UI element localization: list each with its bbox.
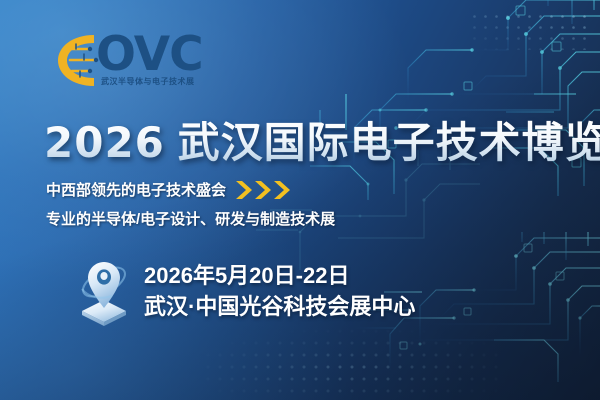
title-name: 武汉国际电子技术博览会	[178, 119, 600, 166]
event-info: 2026年5月20日-22日 武汉·中国光谷科技会展中心	[78, 256, 415, 328]
event-venue: 武汉·中国光谷科技会展中心	[144, 291, 415, 323]
location-pin-icon	[78, 256, 130, 328]
logo-wordmark: OVC	[96, 29, 203, 81]
chevron-group-icon	[234, 180, 290, 200]
title-year: 2026	[44, 118, 165, 167]
subtitle-line-1-text: 中西部领先的电子技术盛会	[46, 179, 226, 200]
dot-grid-top-right	[472, 14, 592, 50]
subtitle-line-2: 专业的半导体/电子设计、研发与制造技术展	[46, 208, 335, 229]
event-info-text: 2026年5月20日-22日 武汉·中国光谷科技会展中心	[144, 261, 415, 323]
chevron-right-icon	[234, 180, 252, 200]
chevron-right-icon	[272, 180, 290, 200]
event-banner: OVC 武汉半导体与电子技术展 2026 武汉国际电子技术博览会 中西部领先的电…	[0, 0, 600, 400]
chevron-right-icon	[253, 180, 271, 200]
subtitle-line-1: 中西部领先的电子技术盛会	[46, 179, 290, 200]
page-title: 2026 武汉国际电子技术博览会	[44, 118, 600, 168]
event-date: 2026年5月20日-22日	[144, 261, 415, 291]
logo-tagline: 武汉半导体与电子技术展	[101, 76, 195, 87]
ovc-logo[interactable]: OVC 武汉半导体与电子技术展	[56, 31, 216, 93]
dot-matrix-pattern	[205, 328, 505, 400]
